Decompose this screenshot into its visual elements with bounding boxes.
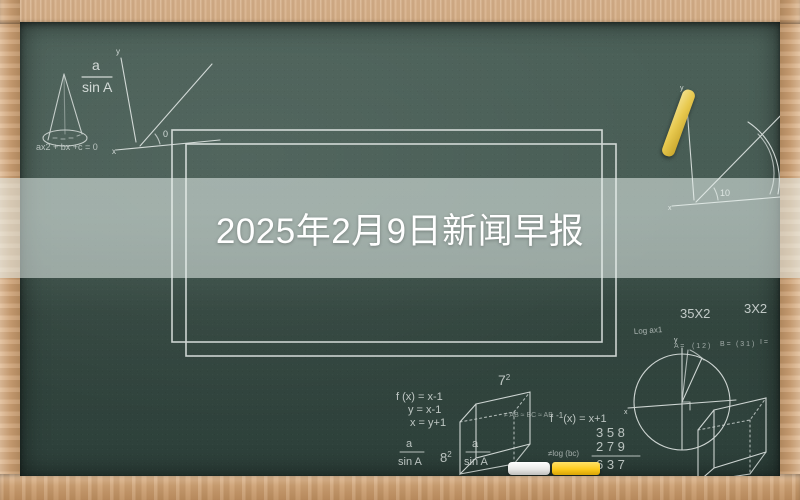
- log-note-1: Log ax1: [634, 325, 664, 336]
- frame-bottom-ledge: [0, 474, 800, 500]
- term-3x2: 3X2: [744, 301, 767, 316]
- chalkboard-banner: a sin A ax2 + bx +c = 0 0 y x: [0, 0, 800, 500]
- power-seven: 72: [498, 372, 511, 388]
- svg-text:x: x: [112, 147, 116, 156]
- circle-diagram: y x: [624, 337, 736, 450]
- svg-text:sin A: sin A: [464, 456, 489, 468]
- inverse-function: f -1(x) = x+1: [550, 411, 607, 425]
- svg-text:y: y: [674, 337, 678, 344]
- svg-text:y: y: [116, 47, 120, 56]
- svg-text:x: x: [624, 409, 628, 416]
- svg-text:sin A: sin A: [398, 456, 423, 468]
- svg-text:a: a: [472, 438, 479, 450]
- svg-text:a: a: [92, 57, 100, 73]
- term-35x2: 35X2: [680, 306, 710, 321]
- svg-text:f (x) = x-1: f (x) = x-1: [396, 391, 443, 403]
- svg-text:x = y+1: x = y+1: [410, 417, 446, 429]
- congruence-note: ≠ AB ≈ BC ≈ AB: [504, 412, 553, 419]
- svg-text:B =: B =: [720, 341, 731, 348]
- yellow-chalk-stick-ledge: [552, 462, 600, 475]
- svg-text:y = x-1: y = x-1: [408, 404, 441, 416]
- svg-text:( 1 2 ): ( 1 2 ): [692, 343, 710, 350]
- white-chalk-stick: [508, 462, 550, 475]
- title-band: 2025年2月9日新闻早报: [0, 178, 800, 278]
- svg-text:( 3 1 ): ( 3 1 ): [736, 341, 754, 348]
- sum-result: 6 3 7: [596, 457, 625, 472]
- cube-diagram-right: [698, 398, 766, 476]
- page-title: 2025年2月9日新闻早报: [216, 203, 584, 254]
- svg-text:0: 0: [163, 129, 168, 139]
- sine-rule-fraction: a sin A: [82, 57, 113, 95]
- sum-row-1: 3 5 8: [596, 425, 625, 440]
- log-note-2: ≠log (bc): [548, 449, 579, 458]
- matrix-notation: A =( 1 2 ) B =( 3 1 ) I =: [674, 339, 768, 350]
- quadratic-equation: ax2 + bx +c = 0: [36, 142, 98, 152]
- svg-text:I =: I =: [760, 339, 768, 346]
- function-lines: f (x) = x-1 y = x-1 x = y+1: [396, 391, 446, 429]
- cone-diagram: [43, 74, 87, 146]
- svg-text:A =: A =: [674, 343, 684, 350]
- svg-text:a: a: [406, 438, 413, 450]
- power-eight: 82: [440, 450, 452, 465]
- svg-text:sin A: sin A: [82, 79, 113, 95]
- sum-row-2: 2 7 9: [596, 439, 625, 454]
- frame-top-rail: [0, 0, 800, 24]
- angle-diagram-left: 0 y x: [112, 47, 220, 156]
